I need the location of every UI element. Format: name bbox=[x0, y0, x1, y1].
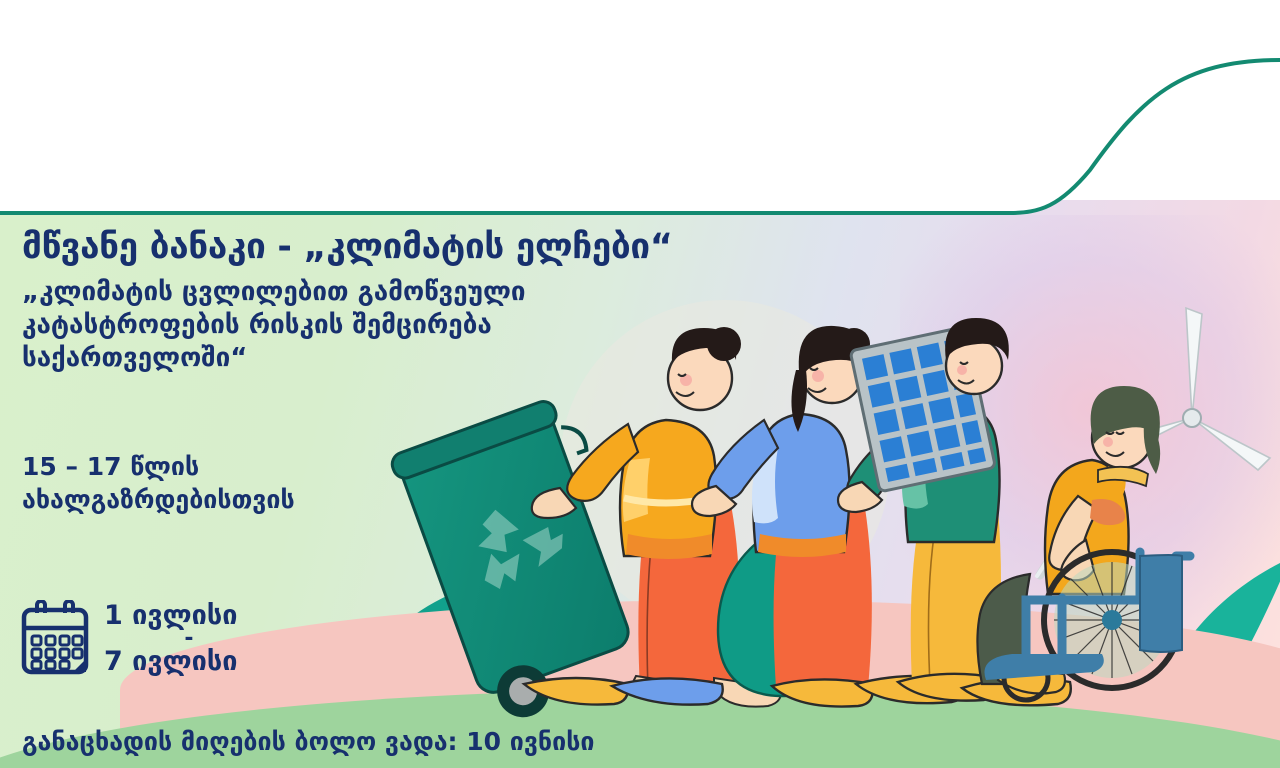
page-title: მწვანე ბანაკი - „კლიმატის ელჩები“ bbox=[22, 226, 722, 268]
headline-block: მწვანე ბანაკი - „კლიმატის ელჩები“ „კლიმა… bbox=[22, 226, 722, 375]
logo-ministry-of-environment: გარემოს დაცვისა და სოფლის მეურნეობის სამ… bbox=[240, 32, 356, 140]
logo-green-climate-fund-label: GREEN CLIMATE FUND bbox=[80, 50, 202, 80]
swiss-flag-icon bbox=[537, 35, 567, 65]
un-emblem-icon bbox=[1021, 38, 1051, 68]
georgia-coat-of-arms-icon bbox=[276, 32, 320, 84]
date-separator: - bbox=[104, 631, 274, 647]
partner-logo-row: GREEN CLIMATE FUND გარემოს დაცვისა და სო… bbox=[0, 32, 1060, 142]
sweden-label-ka: შვედეთი bbox=[830, 32, 968, 52]
logo-green-climate-fund: GREEN CLIMATE FUND bbox=[24, 32, 202, 98]
logo-ministry-label: გარემოს დაცვისა და სოფლის მეურნეობის სამ… bbox=[240, 88, 356, 140]
logo-sweden: შვედეთი Sverige bbox=[731, 32, 968, 88]
age-range-block: 15 – 17 წლის ახალგაზრდებისთვის bbox=[22, 450, 295, 516]
swiss-languages-label: Schweizerische Eidgenossenschaft Confédé… bbox=[576, 32, 682, 105]
sweden-flag-icon bbox=[731, 33, 817, 87]
application-deadline: განაცხადის მიღების ბოლო ვადა: 10 ივნისი bbox=[22, 727, 595, 757]
georgia-coat-of-arms-icon bbox=[421, 32, 465, 84]
age-range-line-2: ახალგაზრდებისთვის bbox=[22, 483, 295, 516]
undp-letter-n: N bbox=[1037, 72, 1056, 88]
swiss-agency-label: Swiss Agency for Development and Coopera… bbox=[576, 116, 682, 165]
calendar-icon bbox=[20, 600, 90, 678]
event-dates-block: 1 ივლისი - 7 ივლისი bbox=[20, 600, 274, 678]
logo-undp: U N D P bbox=[1012, 32, 1060, 108]
undp-letters: U N D P bbox=[1016, 72, 1056, 104]
sweden-label-sv: Sverige bbox=[830, 52, 968, 88]
logo-info-centre-label: სსიპ გარემოსდაცვითი ინფორმაციისა და განა… bbox=[396, 88, 491, 166]
age-range-line-1: 15 – 17 წლის bbox=[22, 450, 295, 483]
logo-swiss-cooperation: Schweizerische Eidgenossenschaft Confédé… bbox=[537, 32, 682, 165]
undp-letter-u: U bbox=[1016, 72, 1035, 88]
undp-letter-d: D bbox=[1016, 90, 1035, 106]
subtitle-line-3: საქართველოში“ bbox=[22, 342, 722, 375]
logo-environmental-info-centre: სსიპ გარემოსდაცვითი ინფორმაციისა და განა… bbox=[396, 32, 491, 166]
date-end: 7 ივლისი bbox=[104, 647, 274, 677]
undp-letter-p: P bbox=[1037, 90, 1056, 106]
subtitle-line-2: კატასტროფების რისკის შემცირება bbox=[22, 309, 722, 342]
globe-icon bbox=[24, 32, 70, 98]
subtitle-line-1: „კლიმატის ცვლილებით გამოწვეული bbox=[22, 276, 722, 309]
poster-canvas: GREEN CLIMATE FUND გარემოს დაცვისა და სო… bbox=[0, 0, 1280, 768]
